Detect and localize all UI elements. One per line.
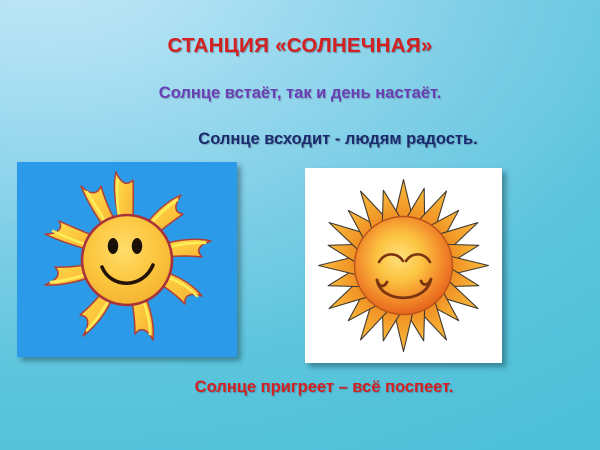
page-title: СТАНЦИЯ «СОЛНЕЧНАЯ» [0, 35, 600, 58]
image-smiling-sun-on-blue [17, 162, 237, 357]
proverb-line-2: Солнце всходит - людям радость. [0, 130, 600, 148]
spiky-sun-icon [305, 168, 502, 363]
slide-canvas: СТАНЦИЯ «СОЛНЕЧНАЯ» Солнце встаёт, так и… [0, 0, 600, 450]
image-spiky-sun-on-white [305, 168, 502, 363]
proverb-line-3: Солнце пригреет – всё поспеет. [0, 378, 600, 396]
sun-eye-right [132, 238, 142, 254]
smiling-sun-icon [17, 162, 237, 357]
proverb-line-1: Солнце встаёт, так и день настаёт. [0, 84, 600, 102]
sun-eye-left [108, 238, 118, 254]
